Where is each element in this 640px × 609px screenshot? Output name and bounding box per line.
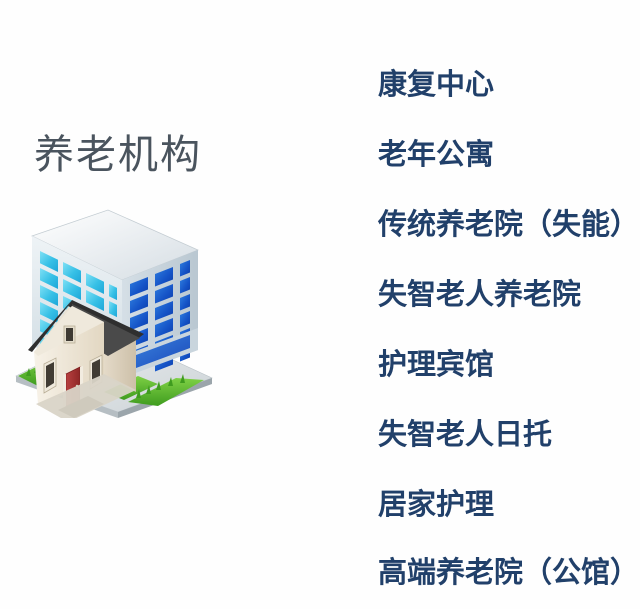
nursing-institution-building-illustration: [8, 206, 220, 418]
service-item[interactable]: 老年公寓: [378, 120, 636, 190]
slide-canvas: 养老机构: [0, 0, 640, 609]
service-item[interactable]: 康复中心: [378, 50, 636, 120]
service-item[interactable]: 居家护理: [378, 470, 636, 540]
category-label: 养老机构: [34, 135, 202, 175]
service-item[interactable]: 失智老人日托: [378, 400, 636, 470]
service-item[interactable]: 护理宾馆: [378, 330, 636, 400]
service-type-list: 康复中心 老年公寓 传统养老院（失能） 失智老人养老院 护理宾馆 失智老人日托 …: [378, 50, 636, 606]
service-item[interactable]: 失智老人养老院: [378, 260, 636, 330]
service-item[interactable]: 高端养老院（公馆）: [378, 540, 636, 606]
service-item[interactable]: 传统养老院（失能）: [378, 190, 636, 260]
